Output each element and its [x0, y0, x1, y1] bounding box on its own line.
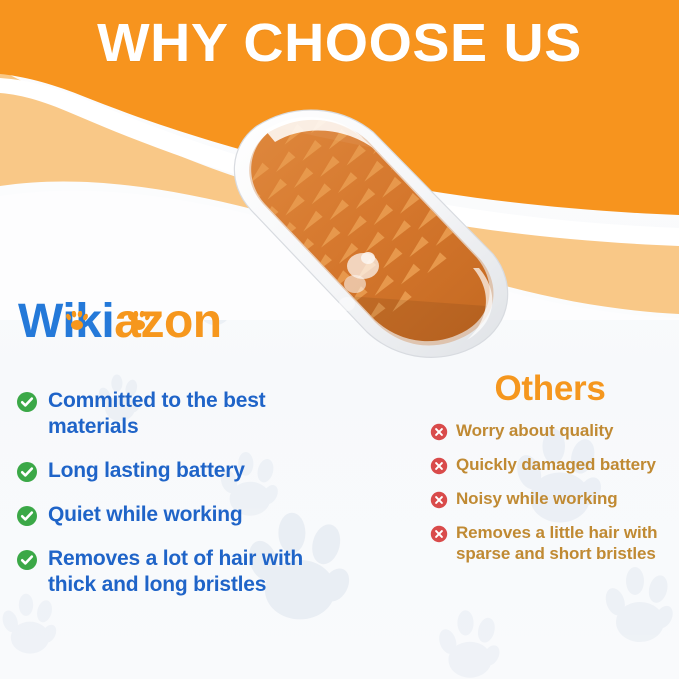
list-item: Quiet while working	[16, 502, 336, 528]
check-circle-icon	[16, 505, 38, 527]
list-item-label: Quickly damaged battery	[456, 454, 656, 475]
list-item-label: Worry about quality	[456, 420, 613, 441]
benefits-list-ours: Committed to the best materials Long las…	[16, 388, 336, 616]
list-item: Committed to the best materials	[16, 388, 336, 440]
x-circle-icon	[430, 457, 448, 475]
list-item-label: Noisy while working	[456, 488, 618, 509]
poster-canvas: WHY CHOOSE US	[0, 0, 679, 679]
x-circle-icon	[430, 525, 448, 543]
brand-logo: Wikiazon	[18, 296, 222, 348]
paw-dot-icon	[128, 290, 150, 310]
list-item-label: Removes a lot of hair with thick and lon…	[48, 546, 336, 598]
x-circle-icon	[430, 423, 448, 441]
check-circle-icon	[16, 549, 38, 571]
list-item: Long lasting battery	[16, 458, 336, 484]
x-circle-icon	[430, 491, 448, 509]
page-title: WHY CHOOSE US	[0, 14, 679, 72]
list-item: Worry about quality	[430, 420, 670, 441]
list-item: Removes a lot of hair with thick and lon…	[16, 546, 336, 598]
list-item-label: Removes a little hair with sparse and sh…	[456, 522, 670, 564]
check-circle-icon	[16, 391, 38, 413]
others-heading: Others	[430, 370, 670, 408]
check-circle-icon	[16, 461, 38, 483]
paw-dot-icon	[66, 290, 88, 310]
benefits-list-others: Others Worry about quality Quickly damag…	[430, 370, 670, 577]
list-item: Quickly damaged battery	[430, 454, 670, 475]
list-item-label: Committed to the best materials	[48, 388, 336, 440]
list-item: Noisy while working	[430, 488, 670, 509]
product-image	[205, 108, 535, 408]
list-item-label: Long lasting battery	[48, 458, 245, 484]
list-item: Removes a little hair with sparse and sh…	[430, 522, 670, 564]
list-item-label: Quiet while working	[48, 502, 243, 528]
